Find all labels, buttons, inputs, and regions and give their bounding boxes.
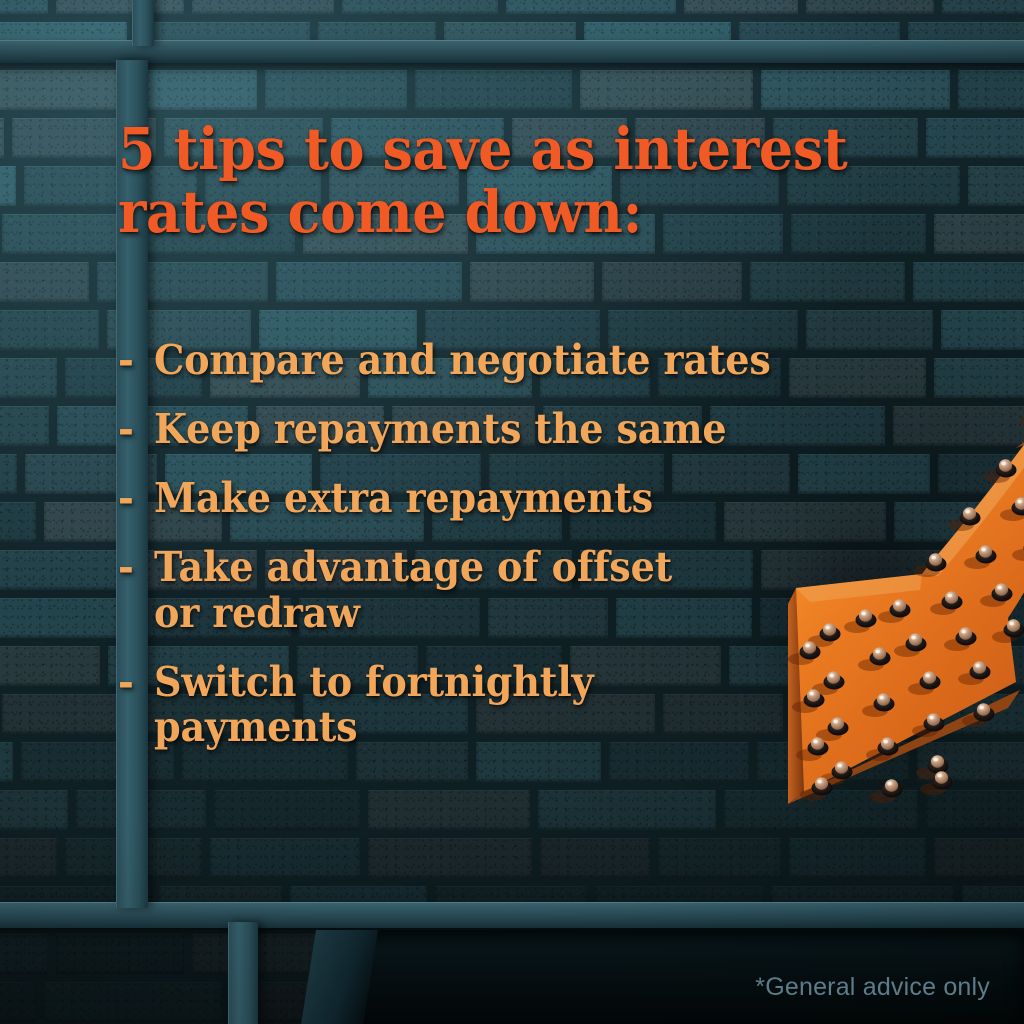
headline-line-1: 5 tips to save as interest	[118, 115, 847, 183]
brick	[214, 790, 360, 830]
brick	[903, 646, 1024, 686]
brick	[0, 70, 123, 110]
brick-row	[0, 838, 1024, 878]
brick	[580, 70, 753, 110]
list-item-label: Switch to fortnightly payments	[154, 660, 865, 752]
page-title: 5 tips to save as interest rates come do…	[118, 118, 862, 244]
brick	[919, 598, 1024, 638]
brick	[658, 838, 781, 878]
bullet-dash: -	[118, 545, 151, 591]
brick	[368, 838, 532, 878]
brick	[0, 310, 99, 350]
bullet-dash: -	[118, 338, 151, 384]
brick	[276, 262, 462, 302]
list-item: -Keep repayments the same	[118, 407, 918, 453]
brick	[789, 838, 926, 878]
brick	[958, 550, 1024, 590]
brick	[938, 454, 1024, 494]
brick	[0, 742, 13, 782]
brick	[942, 0, 1024, 14]
bullet-dash: -	[118, 407, 151, 453]
brick	[926, 790, 1024, 830]
brick	[934, 694, 1024, 734]
brick	[761, 70, 950, 110]
list-item-label: Make extra repayments	[154, 476, 865, 522]
list-item: -Make extra repayments	[118, 476, 918, 522]
brick	[913, 262, 1024, 302]
list-item-label: Keep repayments the same	[154, 407, 865, 453]
headline-line-2: rates come down:	[118, 178, 642, 246]
bullet-dash: -	[118, 476, 151, 522]
brick	[0, 502, 36, 542]
list-item: -Switch to fortnightly payments	[118, 660, 918, 752]
brick	[368, 790, 530, 830]
brick	[934, 214, 1024, 254]
brick	[968, 166, 1024, 206]
poster-canvas: 5 tips to save as interest rates come do…	[0, 0, 1024, 1024]
list-item-label: Take advantage of offset or redraw	[154, 545, 865, 637]
brick	[0, 934, 48, 974]
bullet-dash: -	[118, 660, 151, 706]
brick-row	[0, 262, 1024, 302]
brick	[342, 0, 498, 14]
brick	[0, 646, 100, 686]
vertical-beam-upper	[132, 0, 154, 46]
brick	[0, 262, 89, 302]
brick	[941, 310, 1024, 350]
brick	[917, 742, 1024, 782]
brick	[806, 0, 934, 14]
tips-list: -Compare and negotiate rates-Keep repaym…	[118, 338, 918, 774]
list-item: -Compare and negotiate rates	[118, 338, 918, 384]
brick	[0, 166, 16, 206]
horizontal-beam-bottom	[0, 902, 1024, 928]
brick	[0, 118, 4, 158]
brick	[934, 838, 1024, 878]
brick	[415, 70, 572, 110]
brick	[0, 454, 17, 494]
brick	[958, 70, 1024, 110]
brick-row	[0, 70, 1024, 110]
brick	[0, 982, 36, 1022]
brick	[540, 838, 650, 878]
brick	[0, 838, 57, 878]
brick	[0, 790, 68, 830]
brick	[192, 0, 334, 14]
brick-row	[0, 790, 1024, 830]
brick	[210, 838, 360, 878]
brick	[538, 790, 716, 830]
brick	[0, 358, 57, 398]
brick	[56, 0, 184, 14]
brick	[0, 0, 48, 14]
brick	[0, 406, 49, 446]
brick	[750, 262, 905, 302]
brick	[724, 790, 918, 830]
brick	[131, 70, 257, 110]
brick	[0, 598, 118, 638]
brick	[265, 70, 407, 110]
brick	[602, 262, 742, 302]
brick	[0, 550, 123, 590]
brick	[506, 0, 676, 14]
list-item-label: Compare and negotiate rates	[154, 338, 865, 384]
vertical-beam-lower	[228, 922, 258, 1024]
brick	[684, 0, 798, 14]
brick	[56, 934, 184, 974]
brick	[470, 262, 595, 302]
list-item: -Take advantage of offset or redraw	[118, 545, 918, 637]
brick	[44, 982, 222, 1022]
brick	[926, 118, 1024, 158]
brick	[934, 358, 1024, 398]
disclaimer-text: *General advice only	[755, 973, 990, 1002]
